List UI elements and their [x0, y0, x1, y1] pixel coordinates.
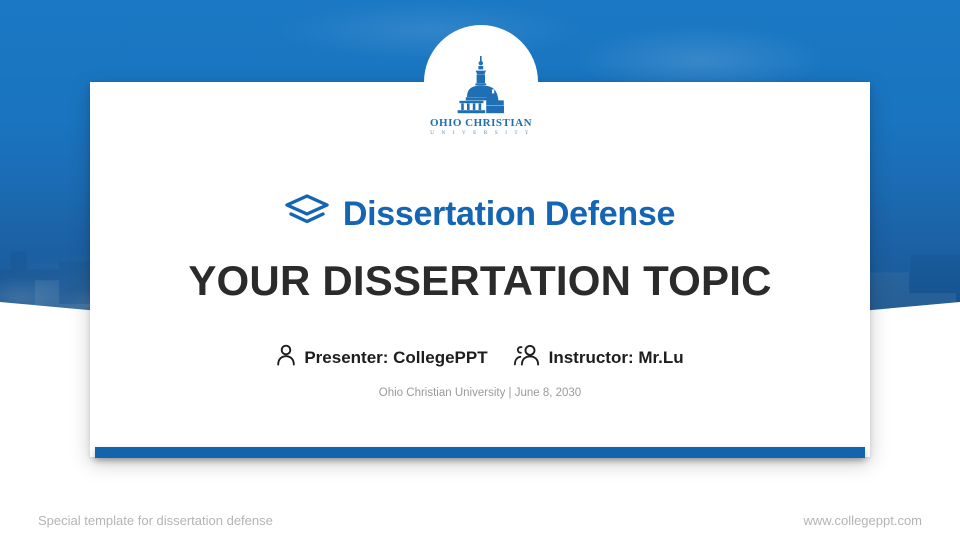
- university-logo: OHIO CHRISTIAN U N I V E R S I T Y: [424, 55, 538, 155]
- university-subtitle: U N I V E R S I T Y: [430, 130, 532, 138]
- page-title: YOUR DISSERTATION TOPIC: [90, 258, 870, 304]
- person-icon: [276, 344, 296, 371]
- instructor-label: Instructor: Mr.Lu: [549, 348, 684, 368]
- people-group-icon: [514, 344, 541, 371]
- university-name: OHIO CHRISTIAN: [430, 118, 532, 129]
- headline-text: Dissertation Defense: [343, 195, 675, 233]
- presenter-label: Presenter: CollegePPT: [304, 348, 487, 368]
- people-row: Presenter: CollegePPT Instructor: Mr.Lu: [90, 344, 870, 371]
- footer-right-text: www.collegeppt.com: [804, 513, 923, 529]
- graduation-cap-icon: [285, 194, 329, 233]
- headline-row: Dissertation Defense: [90, 194, 870, 233]
- university-tower-icon: [445, 55, 517, 117]
- card-bottom-accent-bar: [95, 447, 865, 458]
- presenter-chip: Presenter: CollegePPT: [276, 344, 487, 371]
- venue-and-date: Ohio Christian University | June 8, 2030: [90, 385, 870, 401]
- instructor-chip: Instructor: Mr.Lu: [514, 344, 684, 371]
- footer-left-text: Special template for dissertation defens…: [38, 513, 273, 529]
